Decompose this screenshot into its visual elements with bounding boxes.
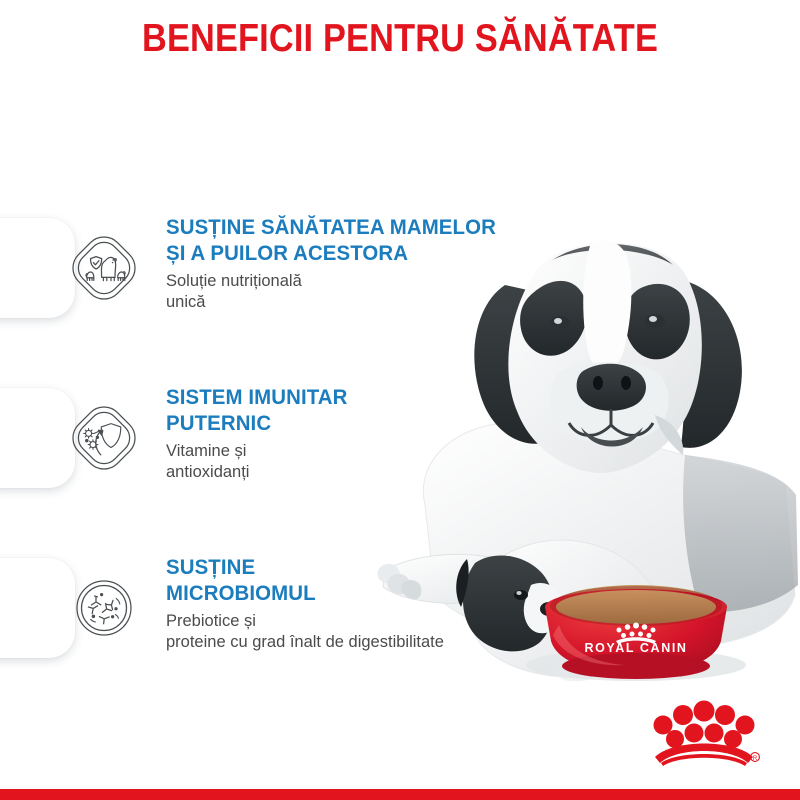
benefit-heading-1: SUSȚINE SĂNĂTATEA MAMELOR ȘI A PUILOR AC… [166, 214, 546, 266]
royal-canin-crown-logo: R [645, 695, 763, 767]
benefit-subtext-3: Prebiotice și proteine cu grad înalt de … [166, 611, 566, 653]
benefit-card-2 [0, 388, 75, 488]
registered-mark-icon: R [751, 753, 760, 762]
benefit-text-2: SISTEM IMUNITAR PUTERNIC Vitamine și ant… [166, 384, 566, 483]
bottom-red-bar [0, 789, 800, 800]
benefit-heading-2: SISTEM IMUNITAR PUTERNIC [166, 384, 546, 436]
benefit-subtext-2: Vitamine și antioxidanți [166, 441, 566, 483]
benefit-text-3: SUSȚINE MICROBIOMUL Prebiotice și protei… [166, 554, 566, 653]
benefit-card-1 [0, 218, 75, 318]
benefit-heading-3: SUSȚINE MICROBIOMUL [166, 554, 546, 606]
microbiome-bacteria-icon [72, 576, 136, 640]
benefit-card-3 [0, 558, 75, 658]
svg-text:R: R [753, 756, 758, 762]
mother-dog-puppies-shield-icon [72, 236, 136, 300]
bowl-brand-text: ROYAL CANIN [584, 641, 687, 655]
benefit-subtext-1: Soluție nutrițională unică [166, 271, 566, 313]
product-benefits-panel: BENEFICII PENTRU SĂNĂTATE [0, 0, 800, 800]
page-title: BENEFICII PENTRU SĂNĂTATE [48, 18, 752, 61]
shield-immunity-germs-icon [72, 406, 136, 470]
benefit-text-1: SUSȚINE SĂNĂTATEA MAMELOR ȘI A PUILOR AC… [166, 214, 566, 313]
